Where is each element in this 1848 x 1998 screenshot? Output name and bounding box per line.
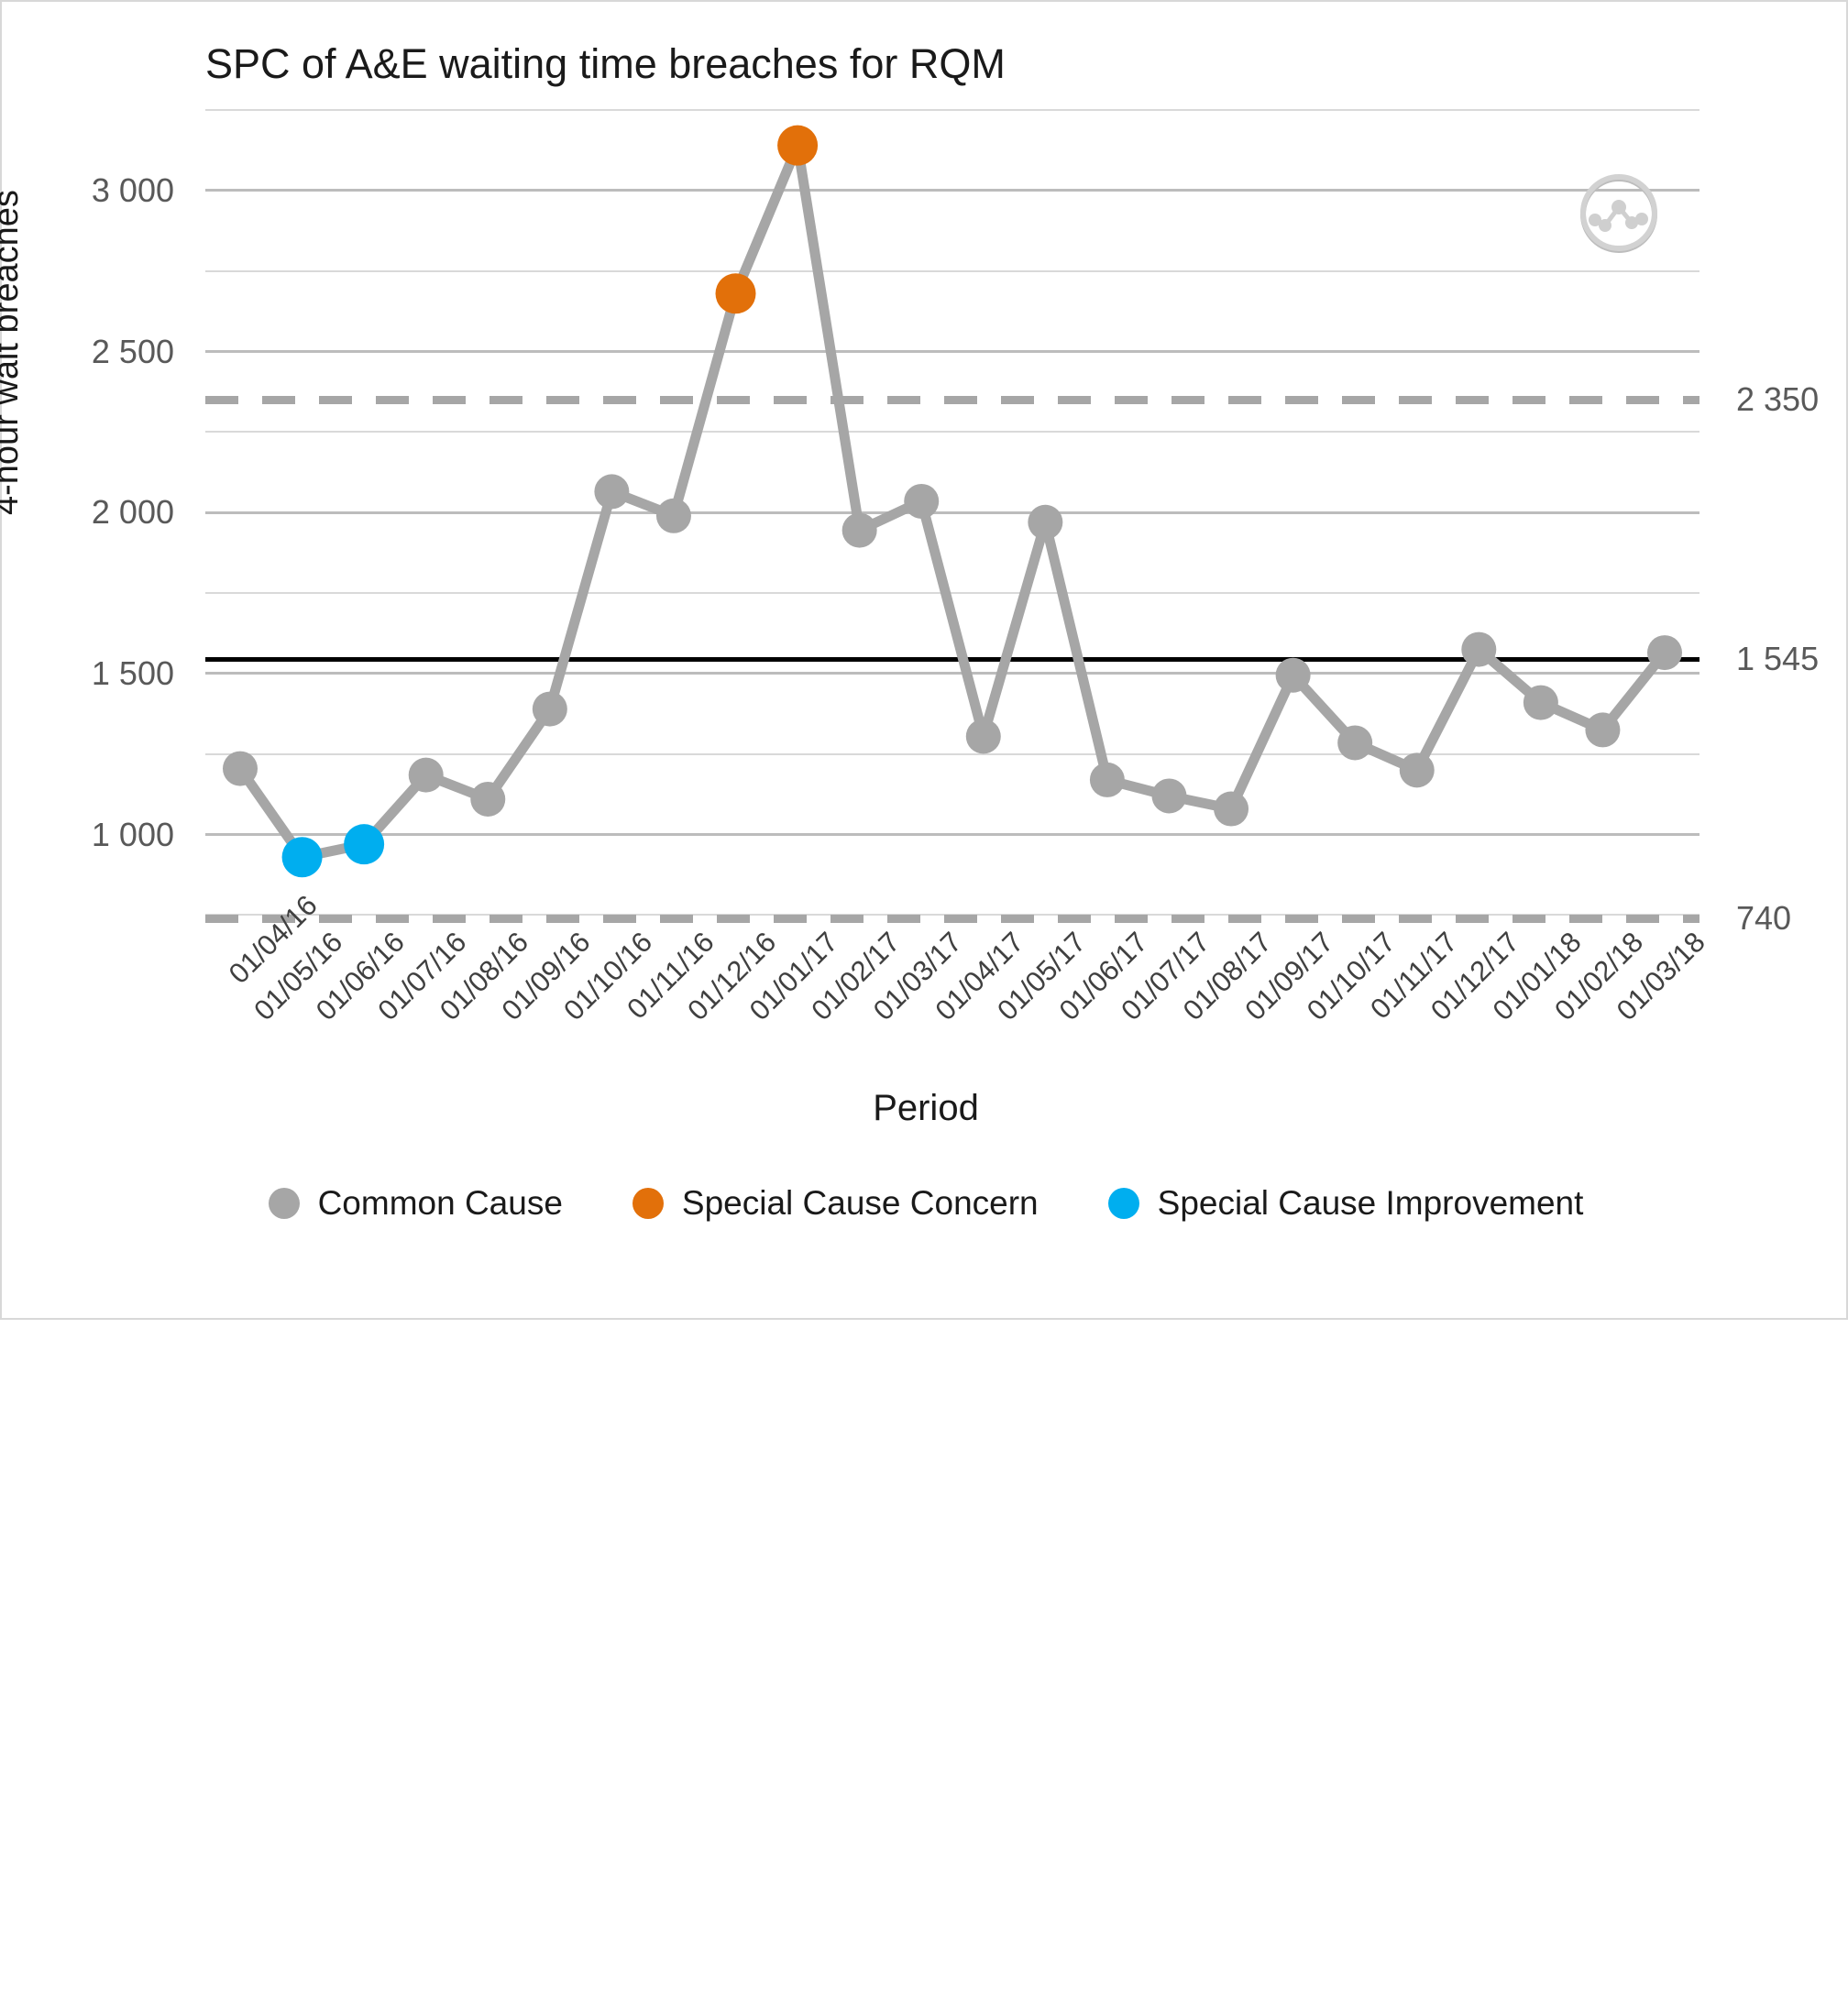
y-axis-tick-label: 2 500 [92, 333, 174, 371]
data-point-common[interactable] [904, 484, 939, 519]
legend-item[interactable]: Special Cause Concern [632, 1184, 1039, 1223]
data-point-common[interactable] [470, 782, 505, 817]
data-point-common[interactable] [1585, 712, 1620, 747]
data-point-common[interactable] [223, 752, 258, 786]
circle-marker-icon [632, 1188, 664, 1219]
data-point-common[interactable] [1276, 658, 1311, 693]
run-chart-logo-icon [1575, 169, 1663, 257]
data-point-concern[interactable] [777, 126, 818, 166]
data-point-common[interactable] [594, 474, 629, 509]
chart-frame: SPC of A&E waiting time breaches for RQM… [0, 0, 1848, 1320]
data-point-common[interactable] [1461, 632, 1496, 667]
lower-control-limit-label: 740 [1736, 899, 1791, 938]
data-point-improvement[interactable] [282, 837, 323, 877]
y-axis-tick-label: 2 000 [92, 493, 174, 532]
circle-marker-icon [1108, 1188, 1139, 1219]
data-point-common[interactable] [1028, 505, 1062, 540]
upper-control-limit-label: 2 350 [1736, 380, 1819, 419]
data-point-common[interactable] [1090, 763, 1125, 797]
data-point-common[interactable] [656, 499, 691, 533]
data-point-common[interactable] [1337, 725, 1372, 760]
data-point-common[interactable] [1523, 686, 1558, 720]
circle-marker-icon [269, 1188, 300, 1219]
y-axis-title: 4-hour wait breaches [0, 190, 27, 515]
y-axis-tick-label: 3 000 [92, 171, 174, 210]
series-line-and-markers [205, 110, 1699, 918]
y-axis-tick-label: 1 000 [92, 816, 174, 854]
data-point-common[interactable] [533, 692, 567, 727]
y-axis-tick-label: 1 500 [92, 654, 174, 693]
data-point-common[interactable] [409, 758, 444, 793]
plot-area [205, 110, 1699, 918]
x-axis-title: Period [2, 1088, 1848, 1129]
data-point-common[interactable] [1647, 635, 1682, 670]
legend-label: Common Cause [318, 1184, 563, 1223]
chart-legend: Common CauseSpecial Cause ConcernSpecial… [2, 1184, 1848, 1223]
data-point-common[interactable] [966, 719, 1001, 753]
data-point-improvement[interactable] [344, 824, 384, 864]
legend-item[interactable]: Special Cause Improvement [1108, 1184, 1584, 1223]
data-point-common[interactable] [842, 513, 877, 548]
chart-title: SPC of A&E waiting time breaches for RQM [205, 40, 1006, 88]
data-point-common[interactable] [1400, 752, 1435, 787]
legend-label: Special Cause Improvement [1158, 1184, 1584, 1223]
data-point-common[interactable] [1151, 778, 1186, 813]
x-axis-tick-labels: 01/04/1601/05/1601/06/1601/07/1601/08/16… [205, 926, 1699, 1081]
series-line [240, 146, 1665, 858]
legend-item[interactable]: Common Cause [269, 1184, 563, 1223]
mean-control-limit-label: 1 545 [1736, 640, 1819, 678]
legend-label: Special Cause Concern [682, 1184, 1039, 1223]
data-point-common[interactable] [1214, 792, 1248, 827]
y-axis-tick-labels: 3 0002 5002 0001 5001 000 [2, 110, 205, 918]
data-point-concern[interactable] [716, 273, 756, 313]
